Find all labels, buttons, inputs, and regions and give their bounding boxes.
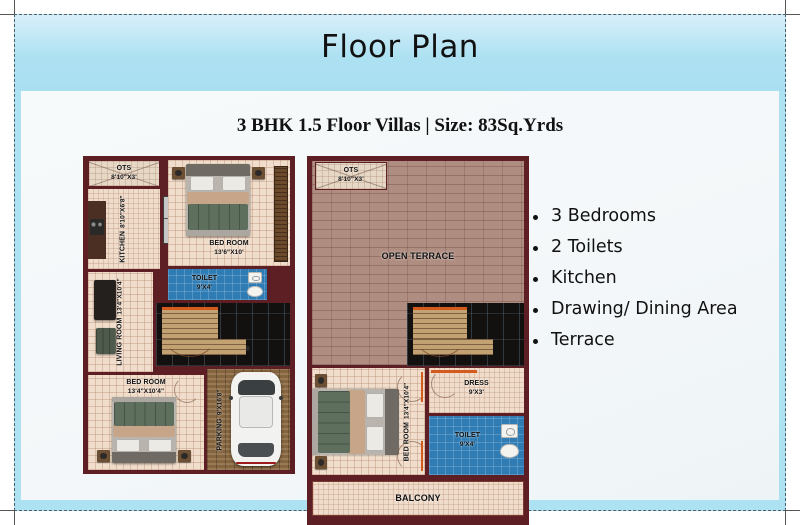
room-label-ots-first: OTS 8'10"X3' — [316, 167, 386, 184]
staircase-ground — [156, 303, 290, 366]
nightstand-top-a — [315, 374, 327, 387]
room-bedroom-rear: BED ROOM 13'4"X10'4" — [88, 375, 204, 470]
wardrobe-front — [274, 166, 288, 262]
living-sofa-a — [94, 280, 116, 320]
crop-mark-top-right-v — [785, 0, 786, 14]
wc-icon-first — [500, 444, 519, 458]
crop-mark-top-left-h — [0, 14, 14, 15]
room-parking: PARKING 9'X16'8" — [207, 369, 290, 470]
feature-item-kitchen: Kitchen — [531, 268, 738, 288]
room-label-balcony: BALCONY — [313, 493, 523, 504]
features-list: 3 Bedrooms 2 Toilets Kitchen Drawing/ Di… — [531, 206, 738, 361]
room-label-living: LIVING ROOM 13'4"X10'4" — [116, 278, 125, 366]
wc-icon-ground — [247, 286, 263, 297]
sink-icon-first — [501, 424, 518, 438]
room-label-open-terrace: OPEN TERRACE — [312, 251, 524, 262]
crop-mark-bottom-left-h — [0, 510, 14, 511]
feature-item-toilets: 2 Toilets — [531, 237, 738, 257]
room-label-kitchen: KITCHEN 8'10"X6'8" — [120, 195, 129, 262]
nightstand-left-front — [172, 167, 185, 179]
floor-plan-page: Floor Plan 3 BHK 1.5 Floor Villas | Size… — [0, 0, 800, 525]
car-icon — [231, 372, 281, 466]
door-swing-dress — [431, 370, 459, 398]
feature-item-terrace: Terrace — [531, 330, 738, 350]
door-leaf-top-a — [421, 372, 423, 402]
room-kitchen: KITCHEN 8'10"X6'8" — [88, 189, 160, 269]
crop-mark-bottom-right-v — [785, 511, 786, 525]
nightstand-left-rear — [97, 450, 110, 462]
room-bedroom-front: BED ROOM 13'6"X10' — [168, 160, 290, 266]
room-label-ots-ground: OTS 8'10"X3' — [89, 165, 159, 182]
feature-item-drawing: Drawing/ Dining Area — [531, 299, 738, 319]
content-canvas: 3 BHK 1.5 Floor Villas | Size: 83Sq.Yrds… — [21, 91, 779, 500]
feature-item-bedrooms: 3 Bedrooms — [531, 206, 738, 226]
room-ots-first: OTS 8'10"X3' — [315, 162, 387, 190]
stair-arc-first — [413, 305, 467, 357]
room-toilet-ground: TOILET 9'X4' — [168, 269, 267, 300]
door-swing-rear-bedroom — [174, 377, 200, 403]
staircase-first — [407, 303, 524, 366]
sink-icon-ground — [248, 272, 262, 283]
crop-mark-bottom-left-v — [14, 511, 15, 525]
room-dress: DRESS 9'X3' — [429, 368, 524, 413]
crop-mark-top-left-v — [14, 0, 15, 14]
door-leaf-top-b — [421, 441, 423, 471]
room-label-parking: PARKING 9'X16'8" — [217, 389, 226, 450]
first-floor-plan: OPEN TERRACE OTS 8'10"X3' — [307, 156, 529, 525]
room-ots-ground: OTS 8'10"X3' — [88, 160, 160, 187]
room-toilet-first: TOILET 9'X4' — [429, 416, 524, 475]
poster-frame: Floor Plan 3 BHK 1.5 Floor Villas | Size… — [14, 14, 786, 511]
stove-icon — [90, 219, 104, 235]
ground-floor-plan: OTS 8'10"X3' KITCHEN 8'10"X6'8" — [83, 156, 295, 474]
room-living: LIVING ROOM 13'4"X10'4" — [88, 272, 153, 372]
stair-arc — [162, 305, 218, 357]
plan-subtitle: 3 BHK 1.5 Floor Villas | Size: 83Sq.Yrds — [21, 115, 779, 137]
nightstand-right-rear — [178, 450, 191, 462]
nightstand-top-b — [315, 456, 327, 469]
room-balcony: BALCONY — [312, 481, 524, 516]
nightstand-right-front — [252, 167, 265, 179]
living-sofa-b — [96, 328, 116, 354]
bed-icon-front — [186, 164, 250, 236]
page-title: Floor Plan — [15, 29, 785, 65]
crop-mark-bottom-right-h — [786, 510, 800, 511]
bed-icon-top — [312, 389, 399, 455]
bed-icon-rear — [112, 397, 176, 463]
crop-mark-top-right-h — [786, 14, 800, 15]
room-label-bedroom-front: BED ROOM 13'6"X10' — [168, 240, 290, 257]
room-bedroom-top: BED ROOM 13'4"X10'4" — [312, 368, 425, 475]
